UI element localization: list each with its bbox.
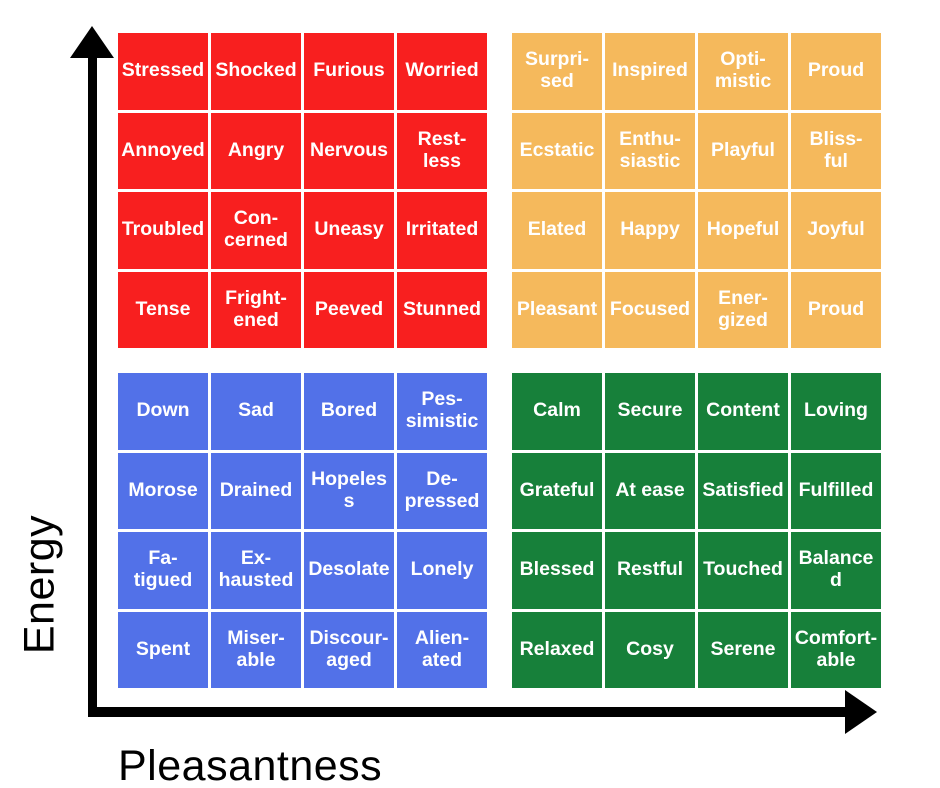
mood-cell[interactable]: Con-cerned — [211, 192, 301, 269]
mood-cell[interactable]: Surpri-sed — [512, 33, 602, 110]
mood-cell-label: Morose — [128, 480, 197, 502]
mood-cell[interactable]: Morose — [118, 453, 208, 530]
mood-cell-label: Ener-gized — [718, 288, 768, 332]
mood-cell[interactable]: Miser-able — [211, 612, 301, 689]
mood-cell-label: Miser-able — [227, 628, 284, 672]
mood-cell[interactable]: Worried — [397, 33, 487, 110]
mood-cell-label: De-pressed — [405, 469, 480, 513]
mood-cell-label: Hopeless — [306, 469, 392, 513]
mood-cell-label: Furious — [313, 60, 385, 82]
mood-cell-label: Joyful — [807, 219, 864, 241]
mood-cell-label: Bored — [321, 400, 377, 422]
mood-cell[interactable]: Rest-less — [397, 113, 487, 190]
mood-cell-label: Serene — [710, 639, 775, 661]
mood-cell-label: At ease — [615, 480, 684, 502]
mood-cell[interactable]: Grateful — [512, 453, 602, 530]
mood-cell[interactable]: Desolate — [304, 532, 394, 609]
x-axis-line — [88, 707, 853, 717]
arrow-up-icon — [70, 26, 114, 58]
mood-cell[interactable]: Peeved — [304, 272, 394, 349]
mood-cell[interactable]: Loving — [791, 373, 881, 450]
mood-cell-label: Bliss-ful — [809, 129, 862, 173]
mood-cell-label: Irritated — [406, 219, 479, 241]
mood-cell-label: Annoyed — [121, 140, 204, 162]
x-axis-label: Pleasantness — [118, 742, 382, 788]
mood-cell[interactable]: Stunned — [397, 272, 487, 349]
mood-cell-label: Content — [706, 400, 780, 422]
mood-cell-label: Relaxed — [520, 639, 595, 661]
mood-cell-label: Rest-less — [418, 129, 467, 173]
mood-cell-label: Con-cerned — [224, 208, 288, 252]
mood-cell-label: Spent — [136, 639, 190, 661]
mood-cell-label: Drained — [220, 480, 293, 502]
mood-cell[interactable]: Touched — [698, 532, 788, 609]
mood-cell-label: Proud — [808, 299, 864, 321]
mood-cell-label: Playful — [711, 140, 775, 162]
mood-cell-label: Touched — [703, 559, 783, 581]
mood-cell[interactable]: Troubled — [118, 192, 208, 269]
mood-cell-label: Fulfilled — [799, 480, 874, 502]
mood-cell-label: Lonely — [411, 559, 474, 581]
mood-cell-label: Calm — [533, 400, 581, 422]
mood-cell-label: Cosy — [626, 639, 674, 661]
mood-cell[interactable]: Cosy — [605, 612, 695, 689]
mood-cell[interactable]: Annoyed — [118, 113, 208, 190]
mood-cell-label: Blessed — [520, 559, 595, 581]
mood-cell-label: Hopeful — [707, 219, 780, 241]
mood-cell[interactable]: Spent — [118, 612, 208, 689]
mood-cell[interactable]: Uneasy — [304, 192, 394, 269]
mood-cell[interactable]: Joyful — [791, 192, 881, 269]
mood-cell-label: Surpri-sed — [525, 49, 589, 93]
mood-cell-label: Proud — [808, 60, 864, 82]
mood-cell[interactable]: Sad — [211, 373, 301, 450]
mood-cell[interactable]: Restful — [605, 532, 695, 609]
mood-cell[interactable]: Nervous — [304, 113, 394, 190]
mood-cell[interactable]: Bored — [304, 373, 394, 450]
mood-cell[interactable]: Hopeful — [698, 192, 788, 269]
mood-cell-label: Pleasant — [517, 299, 597, 321]
mood-cell-label: Loving — [804, 400, 868, 422]
mood-cell-label: Restful — [617, 559, 683, 581]
mood-cell-label: Ex-hausted — [219, 548, 294, 592]
mood-cell[interactable]: Drained — [211, 453, 301, 530]
mood-cell[interactable]: Alien-ated — [397, 612, 487, 689]
mood-cell-label: Peeved — [315, 299, 383, 321]
mood-cell[interactable]: Stressed — [118, 33, 208, 110]
mood-cell[interactable]: De-pressed — [397, 453, 487, 530]
quadrant-high-energy-pleasant: Surpri-sedInspiredOpti-misticProudEcstat… — [512, 33, 881, 348]
mood-cell-label: Discour-aged — [309, 628, 388, 672]
mood-cell[interactable]: Fright-ened — [211, 272, 301, 349]
mood-cell-label: Balanced — [793, 548, 879, 592]
quadrant-low-energy-pleasant: CalmSecureContentLovingGratefulAt easeSa… — [512, 373, 881, 688]
y-axis-label: Energy — [16, 485, 65, 685]
mood-cell[interactable]: Pleasant — [512, 272, 602, 349]
mood-cell-label: Satisfied — [702, 480, 783, 502]
mood-cell[interactable]: Fa-tigued — [118, 532, 208, 609]
mood-cell[interactable]: Happy — [605, 192, 695, 269]
mood-cell[interactable]: Enthu-siastic — [605, 113, 695, 190]
quadrant-high-energy-unpleasant: StressedShockedFuriousWorriedAnnoyedAngr… — [118, 33, 487, 348]
mood-cell[interactable]: Lonely — [397, 532, 487, 609]
mood-cell[interactable]: Fulfilled — [791, 453, 881, 530]
mood-cell-label: Enthu-siastic — [619, 129, 681, 173]
mood-cell[interactable]: Hopeless — [304, 453, 394, 530]
mood-cell[interactable]: Proud — [791, 33, 881, 110]
mood-cell-label: Fa-tigued — [134, 548, 193, 592]
mood-cell[interactable]: Ex-hausted — [211, 532, 301, 609]
mood-cell[interactable]: Content — [698, 373, 788, 450]
mood-cell-label: Happy — [620, 219, 680, 241]
mood-cell-label: Sad — [238, 400, 274, 422]
mood-cell[interactable]: Elated — [512, 192, 602, 269]
mood-cell[interactable]: Shocked — [211, 33, 301, 110]
mood-cell-label: Tense — [136, 299, 191, 321]
mood-cell[interactable]: At ease — [605, 453, 695, 530]
mood-cell[interactable]: Down — [118, 373, 208, 450]
mood-cell[interactable]: Serene — [698, 612, 788, 689]
mood-cell[interactable]: Balanced — [791, 532, 881, 609]
mood-cell-label: Ecstatic — [520, 140, 595, 162]
mood-cell[interactable]: Ecstatic — [512, 113, 602, 190]
mood-cell-label: Angry — [228, 140, 284, 162]
mood-cell-label: Troubled — [122, 219, 204, 241]
mood-cell[interactable]: Opti-mistic — [698, 33, 788, 110]
mood-cell[interactable]: Playful — [698, 113, 788, 190]
mood-cell[interactable]: Furious — [304, 33, 394, 110]
quadrant-low-energy-unpleasant: DownSadBoredPes-simisticMoroseDrainedHop… — [118, 373, 487, 688]
mood-cell[interactable]: Secure — [605, 373, 695, 450]
mood-cell[interactable]: Comfort-able — [791, 612, 881, 689]
mood-cell[interactable]: Proud — [791, 272, 881, 349]
mood-cell[interactable]: Discour-aged — [304, 612, 394, 689]
mood-cell-label: Grateful — [520, 480, 595, 502]
mood-cell-label: Comfort-able — [795, 628, 877, 672]
mood-cell-label: Fright-ened — [225, 288, 287, 332]
mood-cell-label: Shocked — [215, 60, 296, 82]
mood-cell[interactable]: Angry — [211, 113, 301, 190]
mood-cell-label: Worried — [405, 60, 478, 82]
mood-cell[interactable]: Pes-simistic — [397, 373, 487, 450]
mood-cell-label: Desolate — [308, 559, 389, 581]
mood-cell[interactable]: Calm — [512, 373, 602, 450]
mood-cell[interactable]: Tense — [118, 272, 208, 349]
mood-cell-label: Secure — [617, 400, 682, 422]
mood-cell-label: Elated — [528, 219, 587, 241]
mood-cell[interactable]: Relaxed — [512, 612, 602, 689]
mood-cell-label: Nervous — [310, 140, 388, 162]
mood-meter: Energy Pleasantness StressedShockedFurio… — [0, 0, 940, 788]
mood-cell[interactable]: Satisfied — [698, 453, 788, 530]
mood-cell[interactable]: Focused — [605, 272, 695, 349]
mood-cell[interactable]: Irritated — [397, 192, 487, 269]
mood-cell-label: Inspired — [612, 60, 688, 82]
mood-cell-label: Opti-mistic — [715, 49, 771, 93]
mood-cell[interactable]: Ener-gized — [698, 272, 788, 349]
mood-cell-label: Focused — [610, 299, 690, 321]
y-axis-line — [88, 48, 97, 716]
mood-cell-label: Pes-simistic — [406, 389, 479, 433]
arrow-right-icon — [845, 690, 877, 734]
mood-cell[interactable]: Bliss-ful — [791, 113, 881, 190]
mood-cell-label: Stressed — [122, 60, 204, 82]
mood-cell[interactable]: Inspired — [605, 33, 695, 110]
mood-cell-label: Down — [136, 400, 189, 422]
mood-cell-label: Stunned — [403, 299, 481, 321]
mood-cell-label: Uneasy — [314, 219, 383, 241]
mood-cell-label: Alien-ated — [415, 628, 469, 672]
mood-cell[interactable]: Blessed — [512, 532, 602, 609]
